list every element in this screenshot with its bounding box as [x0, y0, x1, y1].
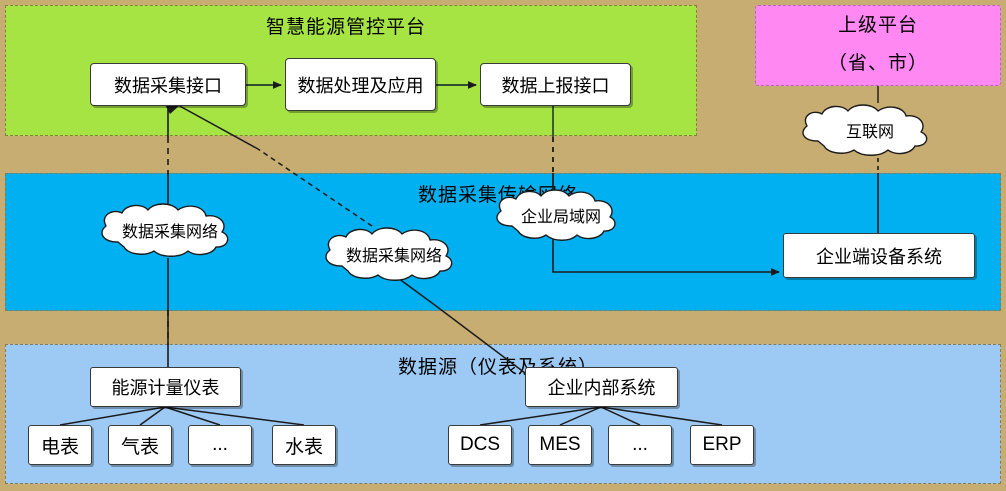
band-title-upper-line1: 上级平台 — [755, 10, 1001, 37]
box-enterprise-internal-system[interactable]: 企业内部系统 — [525, 367, 678, 407]
box-enterprise-device-system[interactable]: 企业端设备系统 — [783, 233, 975, 278]
cloud-data-collection-network-mid[interactable]: 数据采集网络 — [316, 226, 472, 282]
diagram-canvas: 智慧能源管控平台 数据采集传输网络 数据源（仪表及系统） 上级平台 （省、市） — [0, 0, 1006, 491]
cloud-data-collection-network-left[interactable]: 数据采集网络 — [92, 202, 248, 258]
box-energy-metering-instrument[interactable]: 能源计量仪表 — [90, 367, 241, 407]
box-data-processing-application[interactable]: 数据处理及应用 — [285, 58, 436, 111]
cloud-enterprise-lan[interactable]: 企业局域网 — [488, 188, 634, 242]
box-source-leaf[interactable]: ERP — [690, 425, 754, 465]
box-source-leaf[interactable]: 水表 — [272, 425, 336, 465]
box-source-leaf[interactable]: 电表 — [28, 425, 92, 465]
box-source-leaf[interactable]: ... — [608, 425, 672, 465]
box-data-collection-interface[interactable]: 数据采集接口 — [90, 63, 246, 106]
cloud-internet[interactable]: 互联网 — [793, 103, 947, 157]
box-source-leaf[interactable]: 气表 — [108, 425, 172, 465]
box-source-leaf[interactable]: MES — [528, 425, 592, 465]
box-data-report-interface[interactable]: 数据上报接口 — [480, 63, 631, 106]
band-title-upper-line2: （省、市） — [755, 48, 1001, 75]
box-source-leaf[interactable]: DCS — [448, 425, 512, 465]
box-source-leaf[interactable]: ... — [188, 425, 252, 465]
band-title-platform: 智慧能源管控平台 — [0, 12, 692, 39]
